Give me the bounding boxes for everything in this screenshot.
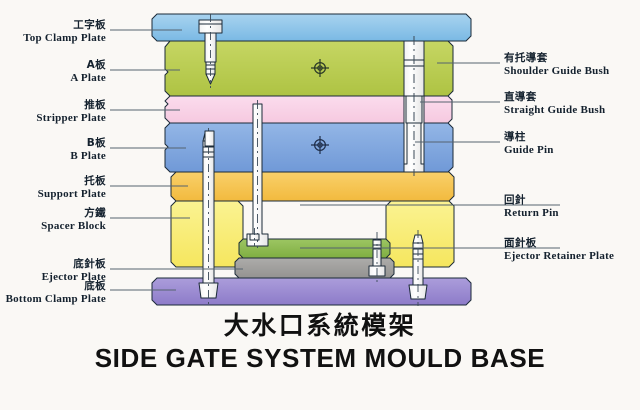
label-b-plate-cn: B板 [70,138,106,150]
diagram-title-en: SIDE GATE SYSTEM MOULD BASE [0,343,640,374]
label-top-clamp-plate-en: Top Clamp Plate [23,32,106,44]
label-b-plate: B板 B Plate [70,138,106,162]
label-b-plate-en: B Plate [70,150,106,162]
label-a-plate-en: A Plate [70,72,106,84]
label-straight-guide-bush-en: Straight Guide Bush [504,104,605,116]
label-bottom-clamp-plate-en: Bottom Clamp Plate [6,293,106,305]
label-a-plate: A板 A Plate [70,60,106,84]
label-spacer-block: 方鐵 Spacer Block [41,208,106,232]
label-guide-pin-cn: 導柱 [504,132,554,144]
label-ejector-retainer-plate: 面針板 Ejector Retainer Plate [504,238,614,262]
stripper-plate-right-rail [424,96,452,123]
label-a-plate-cn: A板 [70,60,106,72]
label-spacer-block-cn: 方鐵 [41,208,106,220]
mould-base-diagram-page: 工字板 Top Clamp Plate A板 A Plate 推板 Stripp… [0,0,640,410]
a-plate-right-rail [424,41,453,96]
label-straight-guide-bush-cn: 直導套 [504,92,605,104]
label-top-clamp-plate: 工字板 Top Clamp Plate [23,20,106,44]
label-support-plate-cn: 托板 [38,176,106,188]
b-plate [165,123,404,172]
label-return-pin: 回針 Return Pin [504,195,559,219]
label-return-pin-en: Return Pin [504,207,559,219]
label-stripper-plate: 推板 Stripper Plate [36,100,106,124]
label-ejector-plate-cn: 底針板 [42,259,106,271]
b-plate-pin [205,131,214,146]
label-bottom-clamp-plate-cn: 底板 [6,281,106,293]
stripper-plate [165,96,404,123]
label-bottom-clamp-plate: 底板 Bottom Clamp Plate [6,281,106,305]
label-straight-guide-bush: 直導套 Straight Guide Bush [504,92,605,116]
label-shoulder-guide-bush: 有托導套 Shoulder Guide Bush [504,53,609,77]
label-guide-pin-en: Guide Pin [504,144,554,156]
label-shoulder-guide-bush-en: Shoulder Guide Bush [504,65,609,77]
diagram-title: 大水口系統模架 SIDE GATE SYSTEM MOULD BASE [0,312,640,374]
label-stripper-plate-en: Stripper Plate [36,112,106,124]
label-spacer-block-en: Spacer Block [41,220,106,232]
label-ejector-retainer-plate-en: Ejector Retainer Plate [504,250,614,262]
label-guide-pin: 導柱 Guide Pin [504,132,554,156]
label-shoulder-guide-bush-cn: 有托導套 [504,53,609,65]
label-ejector-retainer-plate-cn: 面針板 [504,238,614,250]
label-support-plate-en: Support Plate [38,188,106,200]
diagram-title-cn: 大水口系統模架 [0,312,640,341]
label-return-pin-cn: 回針 [504,195,559,207]
label-top-clamp-plate-cn: 工字板 [23,20,106,32]
label-support-plate: 托板 Support Plate [38,176,106,200]
b-plate-right-rail [424,123,453,172]
label-stripper-plate-cn: 推板 [36,100,106,112]
a-plate [165,41,404,96]
